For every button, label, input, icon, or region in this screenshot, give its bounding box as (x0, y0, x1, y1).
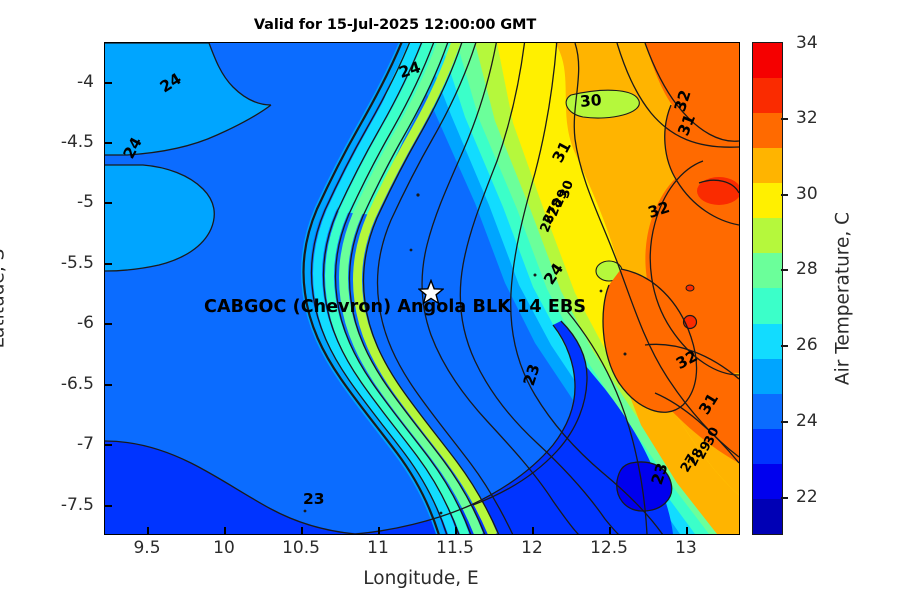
cbar-tick-mark (781, 194, 788, 196)
ytick-mark (105, 82, 112, 84)
ytick-label: -6.5 (48, 374, 94, 394)
chart-title: Valid for 15-Jul-2025 12:00:00 GMT (0, 17, 790, 33)
colorbar-band (753, 464, 782, 499)
colorbar-band (753, 218, 782, 253)
ytick-label: -7.5 (48, 495, 94, 515)
cbar-tick-label: 32 (796, 108, 818, 128)
ytick-label: -5.5 (48, 253, 94, 273)
colorbar-band (753, 288, 782, 323)
xtick-label: 12.5 (590, 538, 628, 558)
xtick-label: 13 (675, 538, 697, 558)
contour-label: 23 (303, 490, 325, 508)
xtick-mark (532, 527, 534, 534)
contour-label: 30 (579, 91, 602, 111)
colorbar-label: Air Temperature, C (833, 212, 854, 385)
colorbar-band (753, 394, 782, 429)
xtick-mark (378, 527, 380, 534)
colorbar-band (753, 183, 782, 218)
colorbar-band (753, 43, 782, 78)
cbar-tick-mark (781, 269, 788, 271)
cbar-tick-mark (781, 497, 788, 499)
xtick-mark (686, 527, 688, 534)
ytick-label: -7 (48, 434, 94, 454)
colorbar-band (753, 429, 782, 464)
ytick-mark (105, 444, 112, 446)
colorbar[interactable] (752, 42, 783, 535)
ytick-mark (105, 142, 112, 144)
cbar-tick-label: 26 (796, 335, 818, 355)
station-label: CABGOC (Chevron) Angola BLK 14 EBS (204, 297, 586, 317)
y-axis-label: Latitude, S (0, 249, 9, 349)
colorbar-band (753, 324, 782, 359)
ytick-mark (105, 323, 112, 325)
xtick-mark (609, 527, 611, 534)
cbar-tick-mark (781, 345, 788, 347)
xtick-mark (224, 527, 226, 534)
ytick-label: -4.5 (48, 132, 94, 152)
colorbar-band (753, 113, 782, 148)
cbar-tick-mark (781, 421, 788, 423)
figure-canvas: Valid for 15-Jul-2025 12:00:00 GMT (0, 0, 900, 600)
cbar-tick-label: 28 (796, 259, 818, 279)
cbar-tick-label: 24 (796, 411, 818, 431)
xtick-label: 10 (213, 538, 235, 558)
colorbar-band (753, 499, 782, 534)
xtick-mark (301, 527, 303, 534)
ytick-label: -4 (48, 72, 94, 92)
xtick-label: 9.5 (133, 538, 160, 558)
xtick-label: 11.5 (436, 538, 474, 558)
cbar-tick-label: 34 (796, 33, 818, 53)
colorbar-band (753, 78, 782, 113)
colorbar-band (753, 359, 782, 394)
cbar-tick-mark (781, 118, 788, 120)
cbar-tick-label: 30 (796, 184, 818, 204)
xtick-mark (147, 527, 149, 534)
xtick-label: 12 (521, 538, 543, 558)
ytick-mark (105, 384, 112, 386)
ytick-label: -5 (48, 192, 94, 212)
ytick-mark (105, 202, 112, 204)
xtick-mark (455, 527, 457, 534)
ytick-mark (105, 263, 112, 265)
ytick-label: -6 (48, 313, 94, 333)
colorbar-band (753, 253, 782, 288)
colorbar-band (753, 148, 782, 183)
ytick-mark (105, 505, 112, 507)
xtick-label: 11 (367, 538, 389, 558)
xtick-label: 10.5 (282, 538, 320, 558)
x-axis-label: Longitude, E (363, 568, 478, 589)
cbar-tick-label: 22 (796, 487, 818, 507)
